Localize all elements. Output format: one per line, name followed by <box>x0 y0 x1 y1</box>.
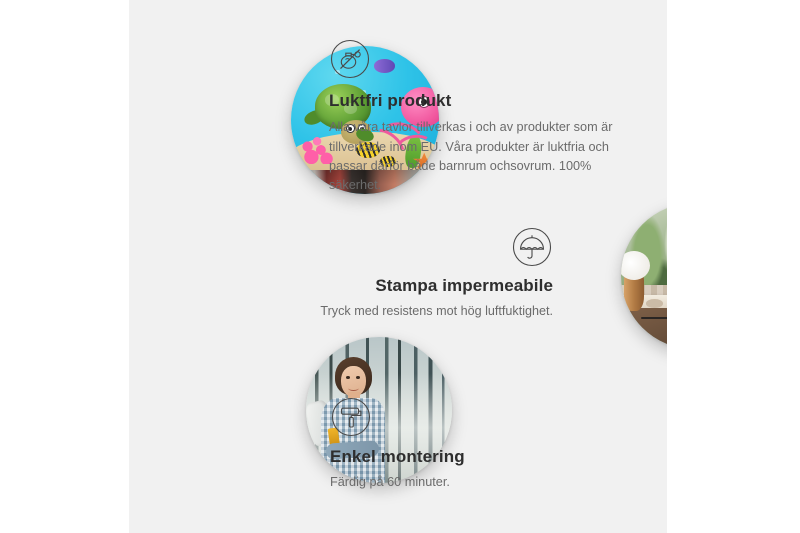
feature-title: Stampa impermeabile <box>215 275 553 296</box>
feature-title: Enkel montering <box>330 446 630 467</box>
feature-block-enkel-montering: Enkel montering Färdig på 60 minuter. <box>330 396 630 493</box>
feature-body: Tryck med resistens mot hög luftfuktighe… <box>215 302 553 321</box>
wooden-vanity-cabinet <box>630 308 667 349</box>
feature-block-luktfri-produkt: Luktfri produkt Alla våra tavlor tillver… <box>329 38 625 195</box>
content-panel: Luktfri produkt Alla våra tavlor tillver… <box>129 0 667 533</box>
feature-title: Luktfri produkt <box>329 90 625 111</box>
feature-body: Färdig på 60 minuter. <box>330 473 630 492</box>
feature-body: Alla våra tavlor tillverkas i och av pro… <box>329 118 625 195</box>
woman-smile <box>348 385 358 390</box>
bathroom-scene <box>621 203 667 349</box>
screenshot-root: Luktfri produkt Alla våra tavlor tillver… <box>0 0 800 533</box>
paint-roller-icon <box>330 396 372 438</box>
no-scent-perfume-bottle-icon <box>329 38 371 80</box>
feature-block-stampa-impermeabile: Stampa impermeabile Tryck med resistens … <box>215 226 553 321</box>
bathroom-interior-circle[interactable] <box>621 203 667 349</box>
umbrella-icon <box>511 226 553 268</box>
